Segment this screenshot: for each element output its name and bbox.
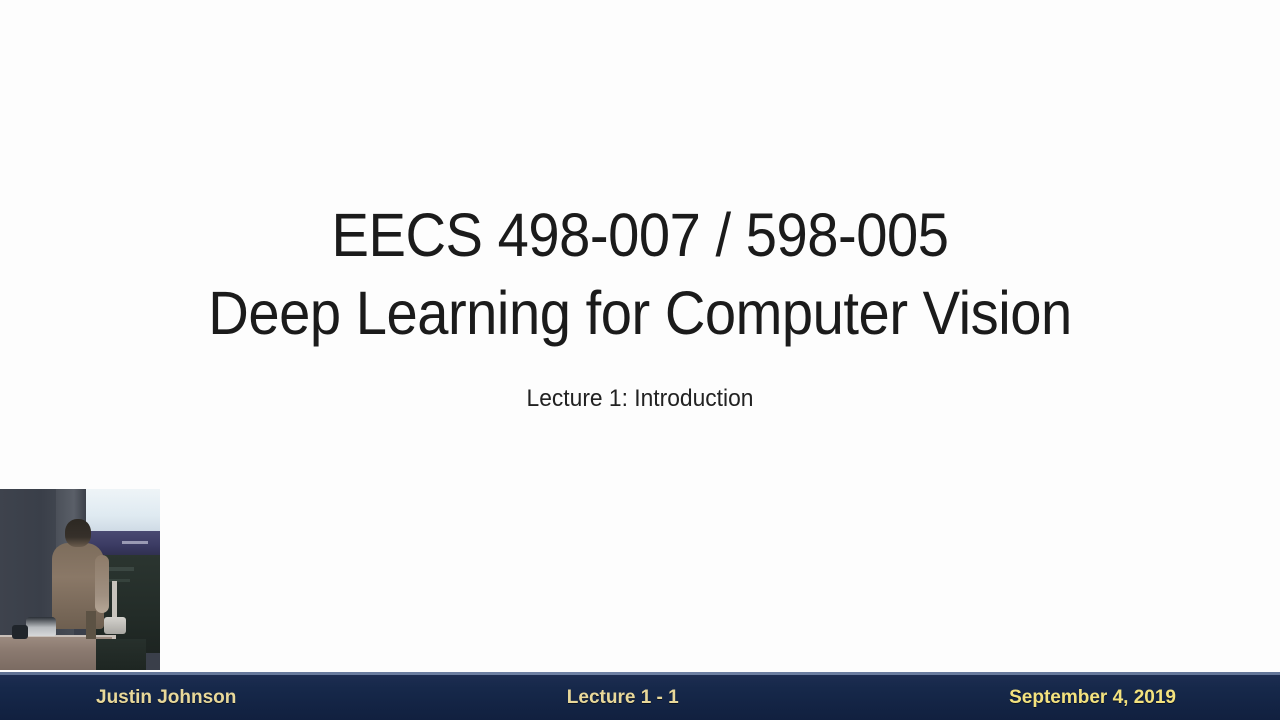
webcam-desk-object-monitor [26, 617, 56, 636]
webcam-scene [0, 489, 160, 670]
webcam-projection-text [122, 541, 148, 544]
webcam-desk-object-dark [12, 625, 28, 639]
webcam-desk-object-paper [104, 617, 126, 634]
course-name-title: Deep Learning for Computer Vision [51, 274, 1229, 352]
slide-title-block: EECS 498-007 / 598-005 Deep Learning for… [0, 196, 1280, 352]
video-player-frame: EECS 498-007 / 598-005 Deep Learning for… [0, 0, 1280, 720]
footer-lecture-slide-number: Lecture 1 - 1 [236, 687, 1009, 709]
course-code-title: EECS 498-007 / 598-005 [51, 196, 1229, 274]
webcam-podium [96, 639, 146, 670]
webcam-desk-object-post [86, 611, 96, 639]
webcam-window-light [86, 489, 160, 533]
slide-footer-bar: Justin Johnson Lecture 1 - 1 September 4… [0, 672, 1280, 720]
instructor-webcam-overlay[interactable] [0, 489, 160, 670]
footer-date: September 4, 2019 [1009, 687, 1176, 709]
webcam-person-arm [95, 555, 109, 613]
footer-content: Justin Johnson Lecture 1 - 1 September 4… [0, 675, 1280, 720]
footer-presenter-name: Justin Johnson [96, 687, 236, 709]
presentation-slide: EECS 498-007 / 598-005 Deep Learning for… [0, 0, 1280, 672]
slide-subtitle: Lecture 1: Introduction [32, 384, 1248, 414]
webcam-person-head [65, 519, 91, 547]
